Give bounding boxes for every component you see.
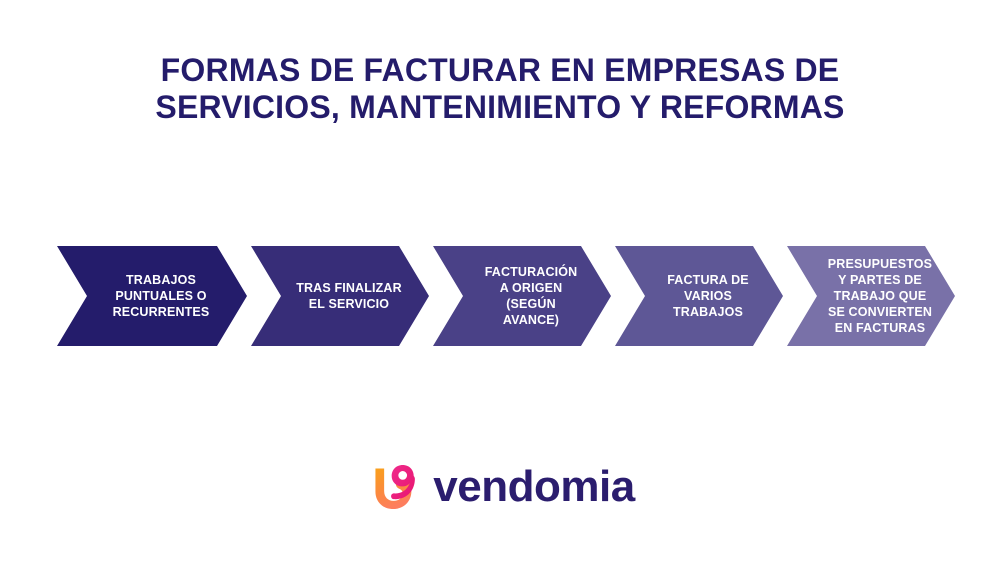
brand-logo: vendomia xyxy=(0,458,1000,516)
process-step-5: PRESUPUESTOS Y PARTES DE TRABAJO QUE SE … xyxy=(787,246,955,346)
process-step-1: TRABAJOS PUNTUALES O RECURRENTES xyxy=(57,246,247,346)
process-step-4-label: FACTURA DE VARIOS TRABAJOS xyxy=(641,272,757,320)
process-step-4: FACTURA DE VARIOS TRABAJOS xyxy=(615,246,783,346)
brand-wordmark: vendomia xyxy=(433,462,634,512)
process-step-3: FACTURACIÓN A ORIGEN (SEGÚN AVANCE) xyxy=(433,246,611,346)
process-step-2-label: TRAS FINALIZAR EL SERVICIO xyxy=(270,280,410,312)
process-step-5-label: PRESUPUESTOS Y PARTES DE TRABAJO QUE SE … xyxy=(802,256,940,336)
vendomia-swoosh-icon xyxy=(365,458,423,516)
process-step-2: TRAS FINALIZAR EL SERVICIO xyxy=(251,246,429,346)
page-title-line-1: FORMAS DE FACTURAR EN EMPRESAS DE xyxy=(0,52,1000,89)
process-flow-diagram: TRABAJOS PUNTUALES O RECURRENTES TRAS FI… xyxy=(57,246,947,346)
page-title-line-2: SERVICIOS, MANTENIMIENTO Y REFORMAS xyxy=(0,89,1000,126)
page-title: FORMAS DE FACTURAR EN EMPRESAS DE SERVIC… xyxy=(0,52,1000,126)
process-step-3-label: FACTURACIÓN A ORIGEN (SEGÚN AVANCE) xyxy=(459,264,586,328)
process-step-1-label: TRABAJOS PUNTUALES O RECURRENTES xyxy=(87,272,218,320)
